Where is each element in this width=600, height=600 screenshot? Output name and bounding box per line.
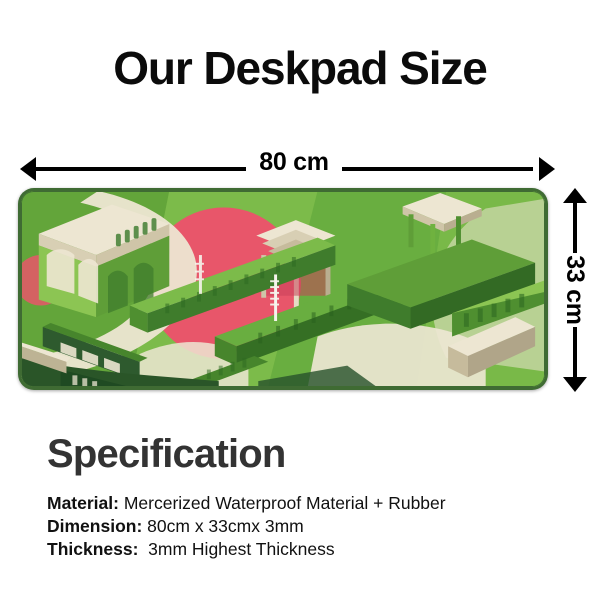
specification-heading: Specification xyxy=(47,432,286,477)
arrow-line-right xyxy=(338,167,533,171)
infographic-root: Our Deskpad Size 80 cm 33 cm xyxy=(0,0,600,600)
height-dimension-arrow: 33 cm xyxy=(562,188,588,392)
spec-key: Thickness: xyxy=(47,539,138,559)
spec-row-material: Material: Mercerized Waterproof Material… xyxy=(47,492,567,515)
page-title: Our Deskpad Size xyxy=(0,44,600,92)
deskpad-product-image xyxy=(18,188,548,390)
arrow-line-bottom xyxy=(573,324,577,380)
isometric-architecture-illustration xyxy=(21,191,545,387)
width-label: 80 cm xyxy=(246,148,342,177)
width-dimension-arrow: 80 cm xyxy=(20,154,555,184)
spec-key: Dimension: xyxy=(47,516,142,536)
arrow-line-top xyxy=(573,200,577,256)
spec-value: 80cm x 33cmx 3mm xyxy=(142,516,303,536)
spec-value: Mercerized Waterproof Material + Rubber xyxy=(119,493,446,513)
deskpad-artwork xyxy=(21,191,545,387)
spec-value: 3mm Highest Thickness xyxy=(138,539,334,559)
arrow-head-right-icon xyxy=(539,157,555,181)
spec-row-thickness: Thickness: 3mm Highest Thickness xyxy=(47,538,567,561)
specification-list: Material: Mercerized Waterproof Material… xyxy=(47,492,567,561)
height-label: 33 cm xyxy=(541,253,600,327)
arrow-head-bottom-icon xyxy=(563,377,587,392)
arrow-line-left xyxy=(32,167,250,171)
spec-key: Material: xyxy=(47,493,119,513)
spec-row-dimension: Dimension: 80cm x 33cmx 3mm xyxy=(47,515,567,538)
